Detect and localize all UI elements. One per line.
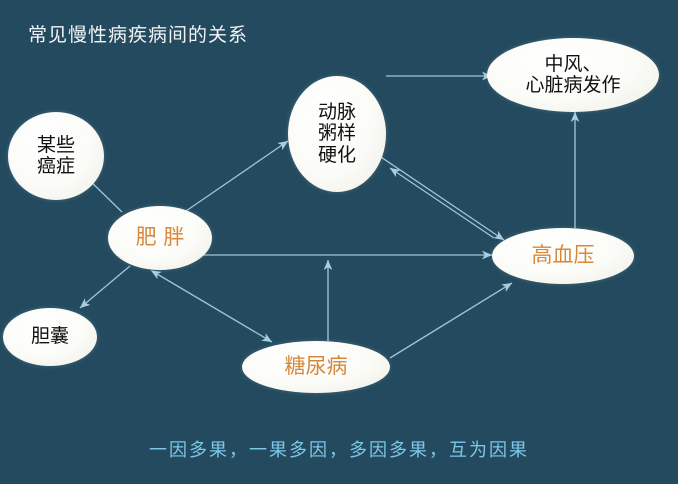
node-cancers-line1: 某些 bbox=[37, 135, 75, 156]
edge-atherosclerosis-hypertension-down bbox=[378, 155, 504, 240]
node-atherosclerosis[interactable]: 动脉 粥样 硬化 bbox=[288, 76, 386, 192]
edge-diabetes-hypertension bbox=[390, 283, 512, 358]
node-obesity-label: 肥 胖 bbox=[136, 226, 185, 250]
node-stroke-heart-attack[interactable]: 中风、 心脏病发作 bbox=[487, 38, 659, 112]
edge-atherosclerosis-hypertension-up bbox=[390, 168, 494, 238]
node-obesity[interactable]: 肥 胖 bbox=[108, 206, 212, 270]
node-diabetes-label: 糖尿病 bbox=[285, 355, 348, 379]
edge-obesity-diabetes bbox=[152, 271, 272, 342]
node-gallbladder-label: 胆囊 bbox=[31, 326, 69, 347]
edge-obesity-gallbladder bbox=[80, 266, 130, 308]
node-diabetes[interactable]: 糖尿病 bbox=[242, 341, 390, 393]
edge-obesity-atherosclerosis bbox=[186, 141, 288, 211]
node-atherosclerosis-line3: 硬化 bbox=[318, 145, 356, 166]
node-cancers-line2: 癌症 bbox=[37, 156, 75, 177]
node-stroke-line1: 中风、 bbox=[525, 54, 620, 75]
node-hypertension-label: 高血压 bbox=[532, 244, 595, 268]
node-atherosclerosis-line2: 粥样 bbox=[318, 123, 356, 144]
node-cancers[interactable]: 某些 癌症 bbox=[8, 112, 104, 200]
diagram-caption: 一因多果，一果多因，多因多果，互为因果 bbox=[0, 436, 678, 462]
node-gallbladder[interactable]: 胆囊 bbox=[3, 308, 97, 366]
diagram-canvas: 常见慢性病疾病间的关系 bbox=[0, 0, 678, 484]
node-stroke-line2: 心脏病发作 bbox=[525, 75, 620, 96]
node-atherosclerosis-line1: 动脉 bbox=[318, 102, 356, 123]
node-hypertension[interactable]: 高血压 bbox=[492, 228, 634, 284]
